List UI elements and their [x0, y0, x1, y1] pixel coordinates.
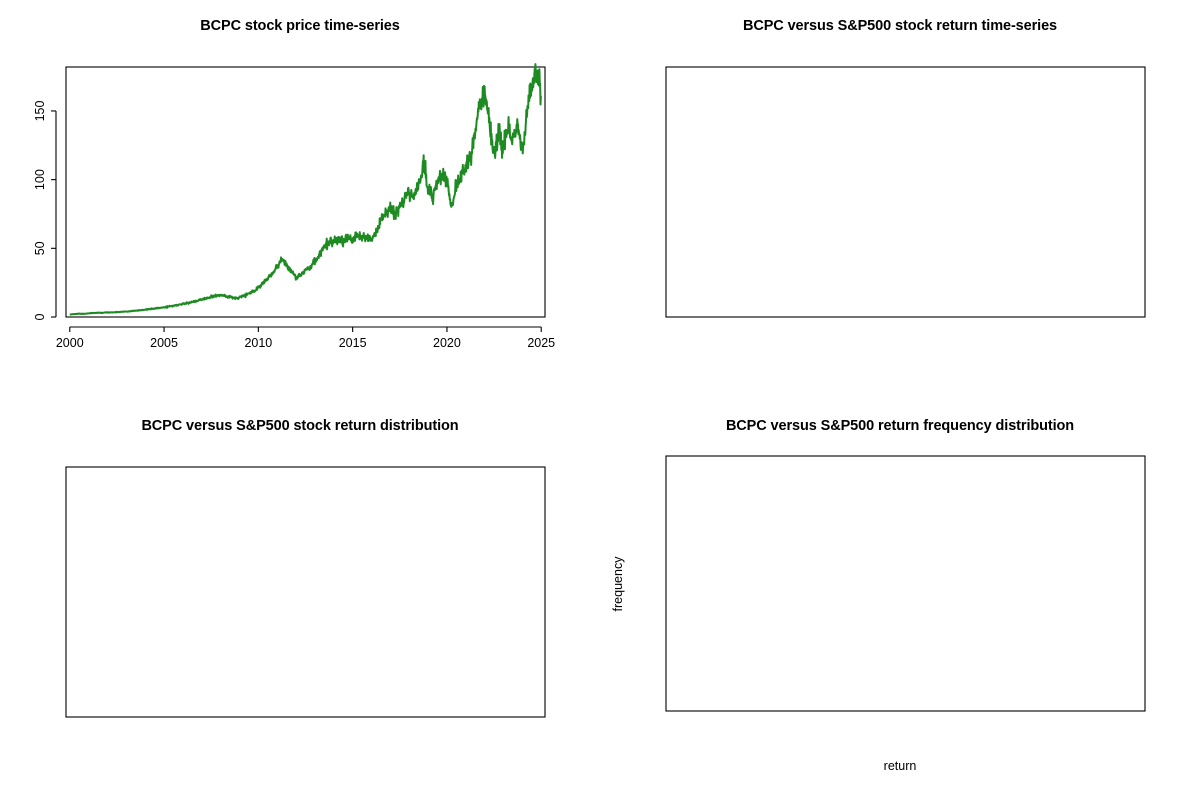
panel-return-density: BCPC versus S&P500 stock return distribu… — [0, 400, 600, 800]
panel-return-series: BCPC versus S&P500 stock return time-ser… — [600, 0, 1200, 400]
panel-return-frequency: BCPC versus S&P500 return frequency dist… — [600, 400, 1200, 800]
panel-stock-price: BCPC stock price time-series 20002005201… — [0, 0, 600, 400]
y-tick-label: 0 — [33, 313, 47, 320]
plot-return-series: 200020052010201520202025-0.2-0.10.00.10.… — [600, 0, 1200, 400]
plot-return-density: -0.2-0.10.00.10.201020304050 BCPC return… — [0, 400, 600, 800]
y-tick-label: 150 — [33, 100, 47, 121]
plot-frame — [666, 456, 1145, 711]
price-line — [70, 64, 541, 315]
figure-grid: BCPC stock price time-series 20002005201… — [0, 0, 1200, 800]
plot-frame — [66, 467, 545, 717]
x-tick-label: 2015 — [339, 336, 367, 350]
x-axis-title: return — [884, 759, 917, 773]
y-axis-title: frequency — [611, 556, 625, 612]
y-tick-label: 100 — [33, 169, 47, 190]
x-tick-label: 2000 — [56, 336, 84, 350]
y-tick-label: 50 — [33, 241, 47, 255]
plot-frame — [66, 67, 545, 317]
x-tick-label: 2025 — [527, 336, 555, 350]
x-tick-label: 2005 — [150, 336, 178, 350]
plot-frame — [666, 67, 1145, 317]
plot-return-frequency: 050010001500200025003000[-0.206,-0.192)[… — [600, 400, 1200, 800]
plot-stock-price: 200020052010201520202025050100150 — [0, 0, 600, 400]
x-tick-label: 2010 — [244, 336, 272, 350]
x-tick-label: 2020 — [433, 336, 461, 350]
